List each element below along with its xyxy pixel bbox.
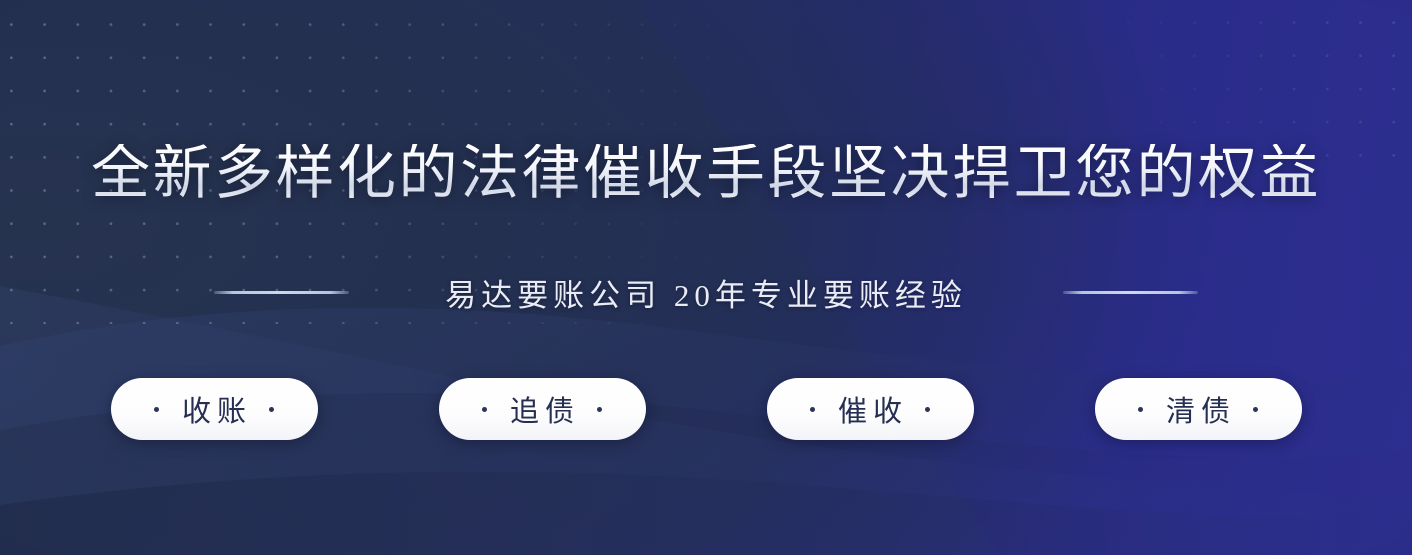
banner-headline: 全新多样化的法律催收手段坚决捍卫您的权益	[0, 144, 1412, 203]
service-pill-label: 追债	[504, 388, 580, 430]
bullet-dot-icon	[1138, 407, 1143, 412]
rule-right-divider	[1063, 291, 1198, 294]
banner-subtitle: 易达要账公司 20年专业要账经验	[445, 270, 967, 315]
service-pill-row: 收账 追债 催收 清债	[0, 377, 1412, 441]
service-pill-label: 收账	[176, 388, 252, 430]
service-pill-zhuizhai[interactable]: 追债	[439, 378, 646, 440]
service-pill-qingzhai[interactable]: 清债	[1095, 378, 1302, 440]
bullet-dot-icon	[482, 407, 487, 412]
service-pill-label: 催收	[832, 388, 908, 430]
service-pill-label: 清债	[1160, 388, 1236, 430]
subtitle-row: 易达要账公司 20年专业要账经验	[0, 266, 1412, 318]
bullet-dot-icon	[269, 407, 274, 412]
bullet-dot-icon	[1253, 407, 1258, 412]
bullet-dot-icon	[810, 407, 815, 412]
service-pill-shouzhang[interactable]: 收账	[111, 378, 318, 440]
rule-left-divider	[214, 291, 349, 294]
service-pill-cuishou[interactable]: 催收	[767, 378, 974, 440]
bullet-dot-icon	[597, 407, 602, 412]
promo-banner: 全新多样化的法律催收手段坚决捍卫您的权益 易达要账公司 20年专业要账经验 收账…	[0, 0, 1412, 555]
bullet-dot-icon	[154, 407, 159, 412]
bullet-dot-icon	[925, 407, 930, 412]
